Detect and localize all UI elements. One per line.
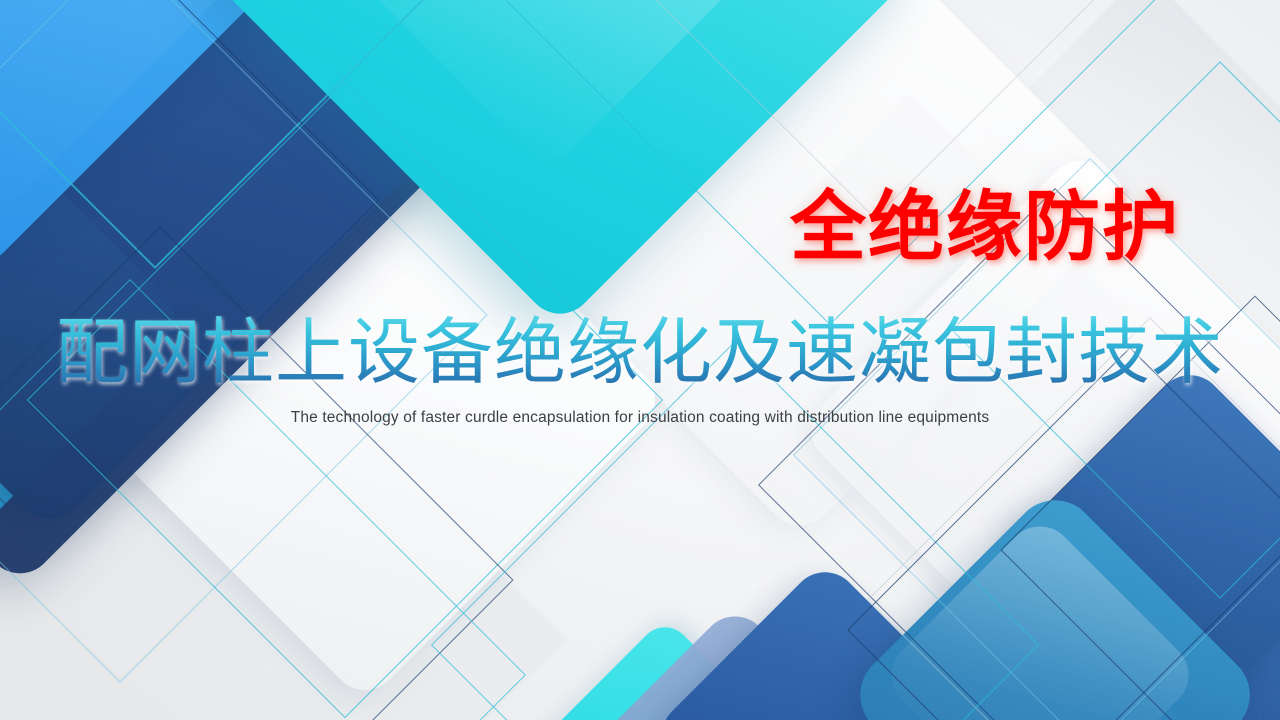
- presentation-slide: 全绝缘防护 配网柱上设备绝缘化及速凝包封技术 The technology of…: [0, 0, 1280, 720]
- text-layer: 全绝缘防护 配网柱上设备绝缘化及速凝包封技术 The technology of…: [0, 0, 1280, 720]
- page-title: 配网柱上设备绝缘化及速凝包封技术: [0, 314, 1280, 390]
- english-subtitle: The technology of faster curdle encapsul…: [0, 409, 1280, 427]
- red-headline: 全绝缘防护: [790, 186, 1180, 268]
